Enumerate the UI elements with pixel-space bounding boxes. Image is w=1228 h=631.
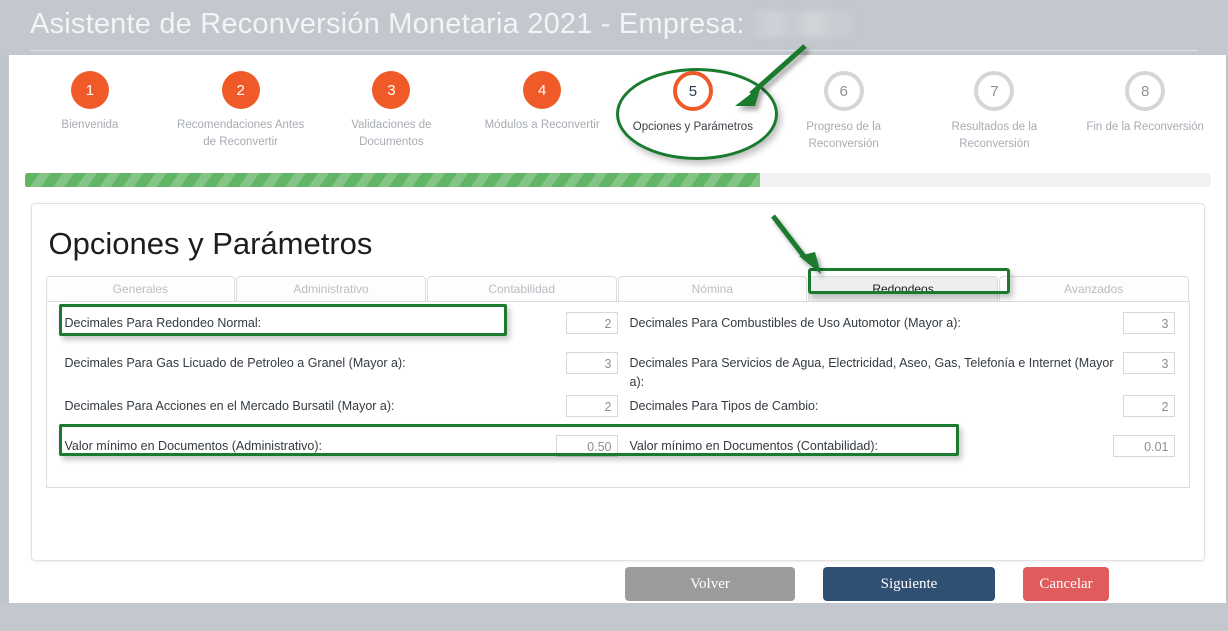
title-divider xyxy=(30,50,1198,51)
label-decimales-servicios: Decimales Para Servicios de Agua, Electr… xyxy=(630,350,1123,393)
input-decimales-servicios[interactable] xyxy=(1123,352,1175,374)
step-8-fin[interactable]: 8 Fin de la Reconversión xyxy=(1070,71,1221,152)
step-4-circle: 4 xyxy=(523,71,561,109)
step-8-circle: 8 xyxy=(1125,71,1165,111)
tab-administrativo[interactable]: Administrativo xyxy=(236,276,426,301)
tab-redondeos[interactable]: Redondeos xyxy=(808,276,998,301)
step-5-label: Opciones y Parámetros xyxy=(618,119,769,136)
step-1-circle: 1 xyxy=(71,71,109,109)
form-row-4: Valor mínimo en Documentos (Administrati… xyxy=(47,433,1189,473)
window-title-text: Asistente de Reconversión Monetaria 2021… xyxy=(30,8,745,40)
title-bar: Asistente de Reconversión Monetaria 2021… xyxy=(0,0,1228,55)
back-button[interactable]: Volver xyxy=(625,567,795,601)
input-decimales-gas-licuado[interactable] xyxy=(566,352,618,374)
step-6-circle: 6 xyxy=(824,71,864,111)
label-decimales-gas-licuado: Decimales Para Gas Licuado de Petroleo a… xyxy=(65,350,566,373)
field-decimales-combustibles: Decimales Para Combustibles de Uso Autom… xyxy=(618,310,1175,334)
step-3-validaciones[interactable]: 3 Validaciones de Documentos xyxy=(316,71,467,152)
label-decimales-tipos-cambio: Decimales Para Tipos de Cambio: xyxy=(630,393,1123,416)
tab-nomina[interactable]: Nómina xyxy=(618,276,808,301)
step-4-modulos[interactable]: 4 Módulos a Reconvertir xyxy=(467,71,618,152)
step-7-resultados[interactable]: 7 Resultados de la Reconversión xyxy=(919,71,1070,152)
step-8-label: Fin de la Reconversión xyxy=(1070,119,1221,136)
step-3-label: Validaciones de Documentos xyxy=(316,117,467,150)
window-footer-bar xyxy=(0,603,1228,631)
field-decimales-redondeo-normal: Decimales Para Redondeo Normal: xyxy=(61,310,618,334)
field-decimales-servicios: Decimales Para Servicios de Agua, Electr… xyxy=(618,350,1175,393)
step-6-label: Progreso de la Reconversión xyxy=(768,119,919,152)
tab-avanzados[interactable]: Avanzados xyxy=(999,276,1189,301)
wizard-window: Asistente de Reconversión Monetaria 2021… xyxy=(0,0,1228,631)
label-decimales-acciones: Decimales Para Acciones en el Mercado Bu… xyxy=(65,393,566,416)
input-decimales-redondeo-normal[interactable] xyxy=(566,312,618,334)
step-5-opciones-parametros[interactable]: 5 Opciones y Parámetros xyxy=(618,71,769,152)
input-decimales-combustibles[interactable] xyxy=(1123,312,1175,334)
step-7-circle: 7 xyxy=(974,71,1014,111)
label-valor-minimo-administrativo: Valor mínimo en Documentos (Administrati… xyxy=(65,433,556,456)
step-6-progreso[interactable]: 6 Progreso de la Reconversión xyxy=(768,71,919,152)
input-valor-minimo-administrativo[interactable] xyxy=(556,435,618,457)
window-title: Asistente de Reconversión Monetaria 2021… xyxy=(30,8,853,41)
label-valor-minimo-contabilidad: Valor mínimo en Documentos (Contabilidad… xyxy=(630,433,1113,456)
input-decimales-tipos-cambio[interactable] xyxy=(1123,395,1175,417)
field-decimales-acciones: Decimales Para Acciones en el Mercado Bu… xyxy=(61,393,618,417)
wizard-button-bar: Volver Siguiente Cancelar xyxy=(9,567,1226,601)
step-2-circle: 2 xyxy=(222,71,260,109)
step-2-label: Recomendaciones Antes de Reconvertir xyxy=(165,117,316,150)
step-5-circle: 5 xyxy=(673,71,713,111)
tab-contabilidad[interactable]: Contabilidad xyxy=(427,276,617,301)
wizard-stepper: 1 Bienvenida 2 Recomendaciones Antes de … xyxy=(9,55,1226,167)
step-7-label: Resultados de la Reconversión xyxy=(919,119,1070,152)
field-decimales-gas-licuado: Decimales Para Gas Licuado de Petroleo a… xyxy=(61,350,618,374)
input-valor-minimo-contabilidad[interactable] xyxy=(1113,435,1175,457)
page-title: Opciones y Parámetros xyxy=(46,218,1190,276)
cancel-button[interactable]: Cancelar xyxy=(1023,567,1109,601)
field-valor-minimo-contabilidad: Valor mínimo en Documentos (Contabilidad… xyxy=(618,433,1175,457)
next-button[interactable]: Siguiente xyxy=(823,567,995,601)
tab-panel-redondeos: Decimales Para Redondeo Normal: Decimale… xyxy=(46,302,1190,488)
company-name-redacted xyxy=(753,11,853,37)
form-row-2: Decimales Para Gas Licuado de Petroleo a… xyxy=(47,350,1189,393)
step-3-circle: 3 xyxy=(372,71,410,109)
tab-generales[interactable]: Generales xyxy=(46,276,236,301)
input-decimales-acciones[interactable] xyxy=(566,395,618,417)
form-row-3: Decimales Para Acciones en el Mercado Bu… xyxy=(47,393,1189,433)
step-2-recomendaciones[interactable]: 2 Recomendaciones Antes de Reconvertir xyxy=(165,71,316,152)
step-1-bienvenida[interactable]: 1 Bienvenida xyxy=(15,71,166,152)
content-card: Opciones y Parámetros Generales Administ… xyxy=(31,203,1205,561)
tab-bar: Generales Administrativo Contabilidad Nó… xyxy=(46,276,1190,302)
wizard-progress-bar xyxy=(25,173,1211,187)
form-row-1: Decimales Para Redondeo Normal: Decimale… xyxy=(47,310,1189,350)
field-decimales-tipos-cambio: Decimales Para Tipos de Cambio: xyxy=(618,393,1175,417)
label-decimales-redondeo-normal: Decimales Para Redondeo Normal: xyxy=(65,310,566,333)
step-4-label: Módulos a Reconvertir xyxy=(467,117,618,134)
label-decimales-combustibles: Decimales Para Combustibles de Uso Autom… xyxy=(630,310,1123,333)
step-1-label: Bienvenida xyxy=(15,117,166,134)
step-list: 1 Bienvenida 2 Recomendaciones Antes de … xyxy=(15,71,1221,152)
wizard-progress-fill xyxy=(25,173,760,187)
field-valor-minimo-administrativo: Valor mínimo en Documentos (Administrati… xyxy=(61,433,618,457)
